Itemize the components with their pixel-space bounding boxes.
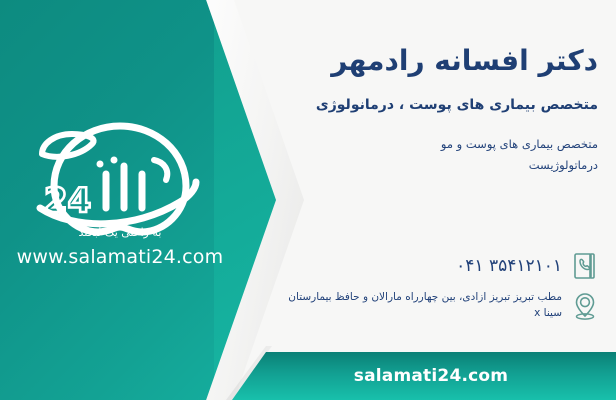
phone-number: ۳۵۴۱۲۱۰۱ ۰۴۱ (456, 256, 568, 276)
footer-website[interactable]: salamati24.com (232, 352, 616, 400)
address-text: مطب تبریز تبریز ازادی، بین چهارراه مارال… (272, 290, 568, 322)
address-row[interactable]: مطب تبریز تبریز ازادی، بین چهارراه مارال… (272, 288, 602, 324)
description-line-2: درماتولوژیست (178, 155, 598, 176)
logo-url: www.salamati24.com (14, 246, 226, 268)
doctor-description: متخصص بیماری های پوست و مو درماتولوژیست (178, 134, 598, 177)
doctor-name: دکتر افسانه رادمهر (178, 44, 598, 77)
phone-row[interactable]: ۳۵۴۱۲۱۰۱ ۰۴۱ (456, 248, 602, 284)
description-line-1: متخصص بیماری های پوست و مو (178, 134, 598, 155)
location-pin-icon (568, 288, 602, 324)
doctor-specialty: متخصص بیماری های پوست ، درمانولوژی (158, 97, 598, 113)
brand-logo: 24 به راحتی یک لبخند www.salamati24.com (14, 104, 226, 280)
logo-tagline: به راحتی یک لبخند (14, 226, 226, 239)
logo-badge-number: 24 (44, 181, 91, 221)
phone-book-icon (568, 248, 602, 284)
business-card: 24 به راحتی یک لبخند www.salamati24.com … (0, 0, 616, 400)
